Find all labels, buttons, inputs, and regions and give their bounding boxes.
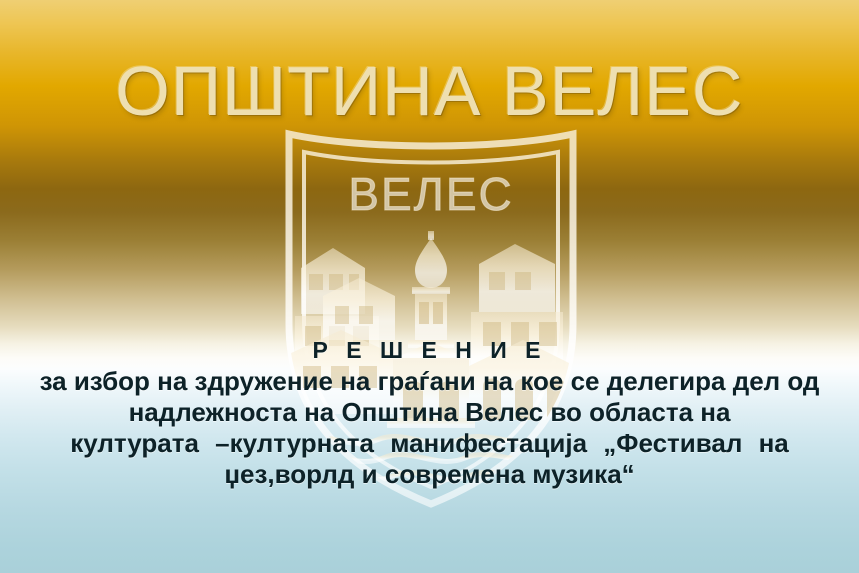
document-line-4: џез,ворлд и современа музика“ [28,459,831,490]
municipality-title: ОПШТИНА ВЕЛЕС [0,56,859,126]
document-heading: Р Е Ш Е Н И Е [28,336,831,364]
document-line-2: надлежноста на Општина Велес во областа … [28,397,831,428]
decision-text-block: Р Е Ш Е Н И Е за избор на здружение на г… [28,336,831,490]
document-line-3: културата –културната манифестација „Фес… [28,428,831,459]
tower-dome-icon [415,238,447,288]
shield-chief-label: ВЕЛЕС [348,168,513,220]
poster-canvas: ВЕЛЕС [0,0,859,573]
document-line-1: за избор на здружение на граѓани на кое … [28,366,831,397]
